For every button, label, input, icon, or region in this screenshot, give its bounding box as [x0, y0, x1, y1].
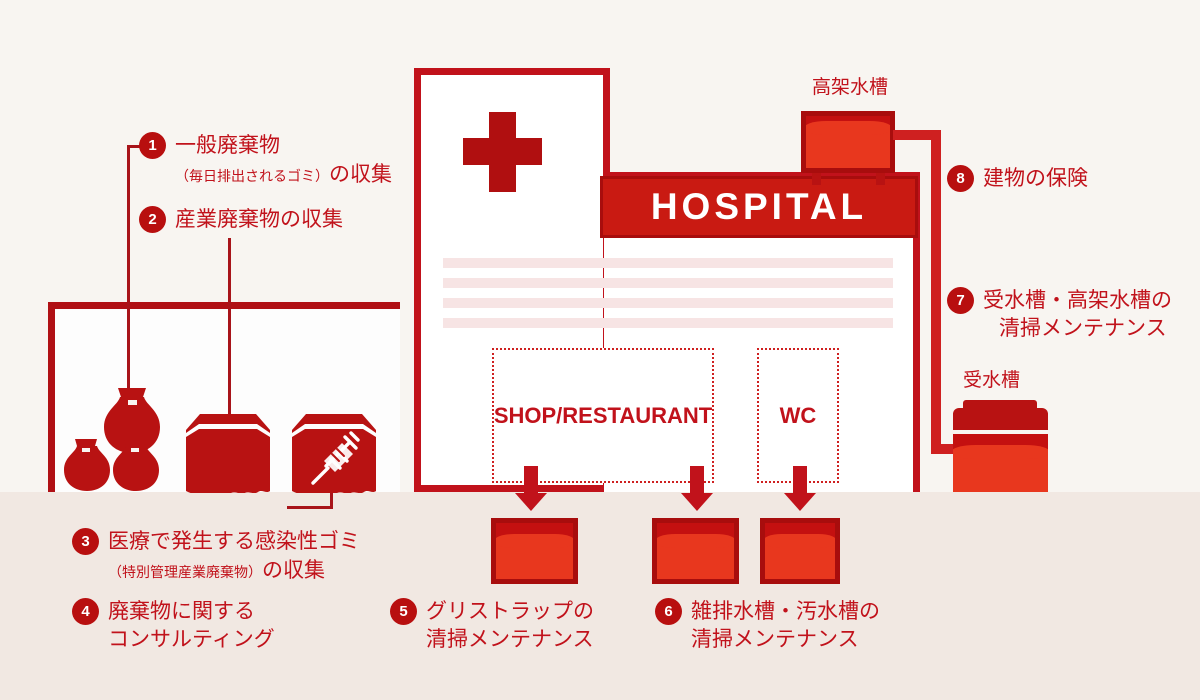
service-badge-7: 7 — [947, 287, 974, 314]
grease-trap-tank — [491, 518, 578, 584]
service-label-3: 医療で発生する感染性ゴミ （特別管理産業廃棄物）の収集 — [108, 528, 360, 586]
service-label-8: 建物の保険 — [983, 165, 1088, 193]
service-label-4: 廃棄物に関する コンサルティング — [108, 598, 275, 653]
service-item-5[interactable]: 5 グリストラップの 清掃メンテナンス — [390, 598, 594, 653]
arrow-head-grease-trap — [515, 493, 547, 511]
connector-2-vertical — [228, 238, 231, 418]
window-stripe — [443, 258, 893, 268]
window-stripe — [443, 278, 893, 288]
tank-water-level — [655, 541, 736, 579]
service-label-5: グリストラップの 清掃メンテナンス — [426, 598, 594, 653]
service-label-2: 産業廃棄物の収集 — [175, 206, 343, 234]
service-line1-3: 医療で発生する感染性ゴミ — [108, 528, 360, 556]
service-item-7[interactable]: 7 受水槽・高架水槽の 清掃メンテナンス — [947, 287, 1172, 342]
arrow-shaft-wastewater — [690, 466, 704, 495]
tank-water-level — [763, 541, 837, 579]
service-label-7: 受水槽・高架水槽の 清掃メンテナンス — [983, 287, 1172, 342]
tank-water-level — [494, 541, 575, 579]
room-label-shop-restaurant: SHOP/RESTAURANT — [494, 403, 712, 429]
elevated-tank-leg-left — [812, 173, 821, 185]
service-line1-8: 建物の保険 — [983, 165, 1088, 193]
service-line2-3: （特別管理産業廃棄物）の収集 — [108, 556, 360, 586]
sewage-tank — [760, 518, 840, 584]
service-line2-4: コンサルティング — [108, 626, 275, 654]
service-badge-3: 3 — [72, 528, 99, 555]
garbage-bag-icon — [62, 382, 192, 494]
elevated-water-tank — [801, 111, 895, 173]
service-badge-1: 1 — [139, 132, 166, 159]
service-line2-main-3: の収集 — [262, 559, 325, 582]
service-line1-2: 産業廃棄物の収集 — [175, 206, 343, 234]
elevated-tank-label: 高架水槽 — [812, 72, 888, 99]
tank-water-level — [804, 128, 892, 168]
service-line2-6: 清掃メンテナンス — [691, 626, 880, 654]
service-line2-1: （毎日排出されるゴミ）の収集 — [175, 160, 392, 190]
service-line2-7: 清掃メンテナンス — [983, 315, 1172, 343]
service-line2-small-1: （毎日排出されるゴミ） — [175, 168, 329, 184]
service-badge-2: 2 — [139, 206, 166, 233]
window-stripe — [443, 298, 893, 308]
service-item-3[interactable]: 3 医療で発生する感染性ゴミ （特別管理産業廃棄物）の収集 — [72, 528, 360, 586]
industrial-waste-bin-icon — [182, 411, 274, 493]
service-badge-6: 6 — [655, 598, 682, 625]
service-item-1[interactable]: 1 一般廃棄物 （毎日排出されるゴミ）の収集 — [139, 132, 392, 190]
connector-3-horizontal — [287, 506, 333, 509]
service-line2-5: 清掃メンテナンス — [426, 626, 594, 654]
service-item-8[interactable]: 8 建物の保険 — [947, 165, 1088, 193]
medical-waste-bin-icon — [288, 411, 380, 493]
elevated-tank-leg-right — [876, 173, 885, 185]
receiving-tank-cap — [953, 408, 1048, 430]
arrow-shaft-sewage — [793, 466, 807, 495]
service-item-2[interactable]: 2 産業廃棄物の収集 — [139, 206, 343, 234]
receiving-water-tank — [953, 434, 1048, 492]
connector-1-vertical — [127, 145, 130, 397]
service-badge-4: 4 — [72, 598, 99, 625]
room-wc[interactable]: WC — [757, 348, 839, 483]
ground-background — [0, 492, 1200, 700]
arrow-shaft-grease-trap — [524, 466, 538, 495]
service-line1-5: グリストラップの — [426, 598, 594, 626]
receiving-tank-label: 受水槽 — [963, 365, 1020, 392]
wastewater-tank — [652, 518, 739, 584]
arrow-head-sewage — [784, 493, 816, 511]
service-line1-1: 一般廃棄物 — [175, 132, 392, 160]
service-line1-4: 廃棄物に関する — [108, 598, 275, 626]
tank-water-level — [953, 452, 1048, 492]
arrow-head-wastewater — [681, 493, 713, 511]
service-line1-7: 受水槽・高架水槽の — [983, 287, 1172, 315]
room-label-wc: WC — [780, 403, 817, 429]
hospital-sign: HOSPITAL — [600, 176, 918, 238]
service-badge-5: 5 — [390, 598, 417, 625]
water-pipe-vertical — [931, 130, 941, 454]
red-cross-icon-bar — [463, 138, 542, 165]
service-label-1: 一般廃棄物 （毎日排出されるゴミ）の収集 — [175, 132, 392, 190]
window-stripe — [443, 318, 893, 328]
service-line2-small-3: （特別管理産業廃棄物） — [108, 564, 262, 580]
infographic-canvas: 1 一般廃棄物 （毎日排出されるゴミ）の収集 2 産業廃棄物の収集 3 医療で発… — [0, 0, 1200, 700]
service-label-6: 雑排水槽・汚水槽の 清掃メンテナンス — [691, 598, 880, 653]
service-item-6[interactable]: 6 雑排水槽・汚水槽の 清掃メンテナンス — [655, 598, 880, 653]
service-item-4[interactable]: 4 廃棄物に関する コンサルティング — [72, 598, 275, 653]
hospital-sign-text: HOSPITAL — [651, 186, 867, 228]
service-line1-6: 雑排水槽・汚水槽の — [691, 598, 880, 626]
service-badge-8: 8 — [947, 165, 974, 192]
service-line2-main-1: の収集 — [329, 163, 392, 186]
room-shop-restaurant[interactable]: SHOP/RESTAURANT — [492, 348, 714, 483]
